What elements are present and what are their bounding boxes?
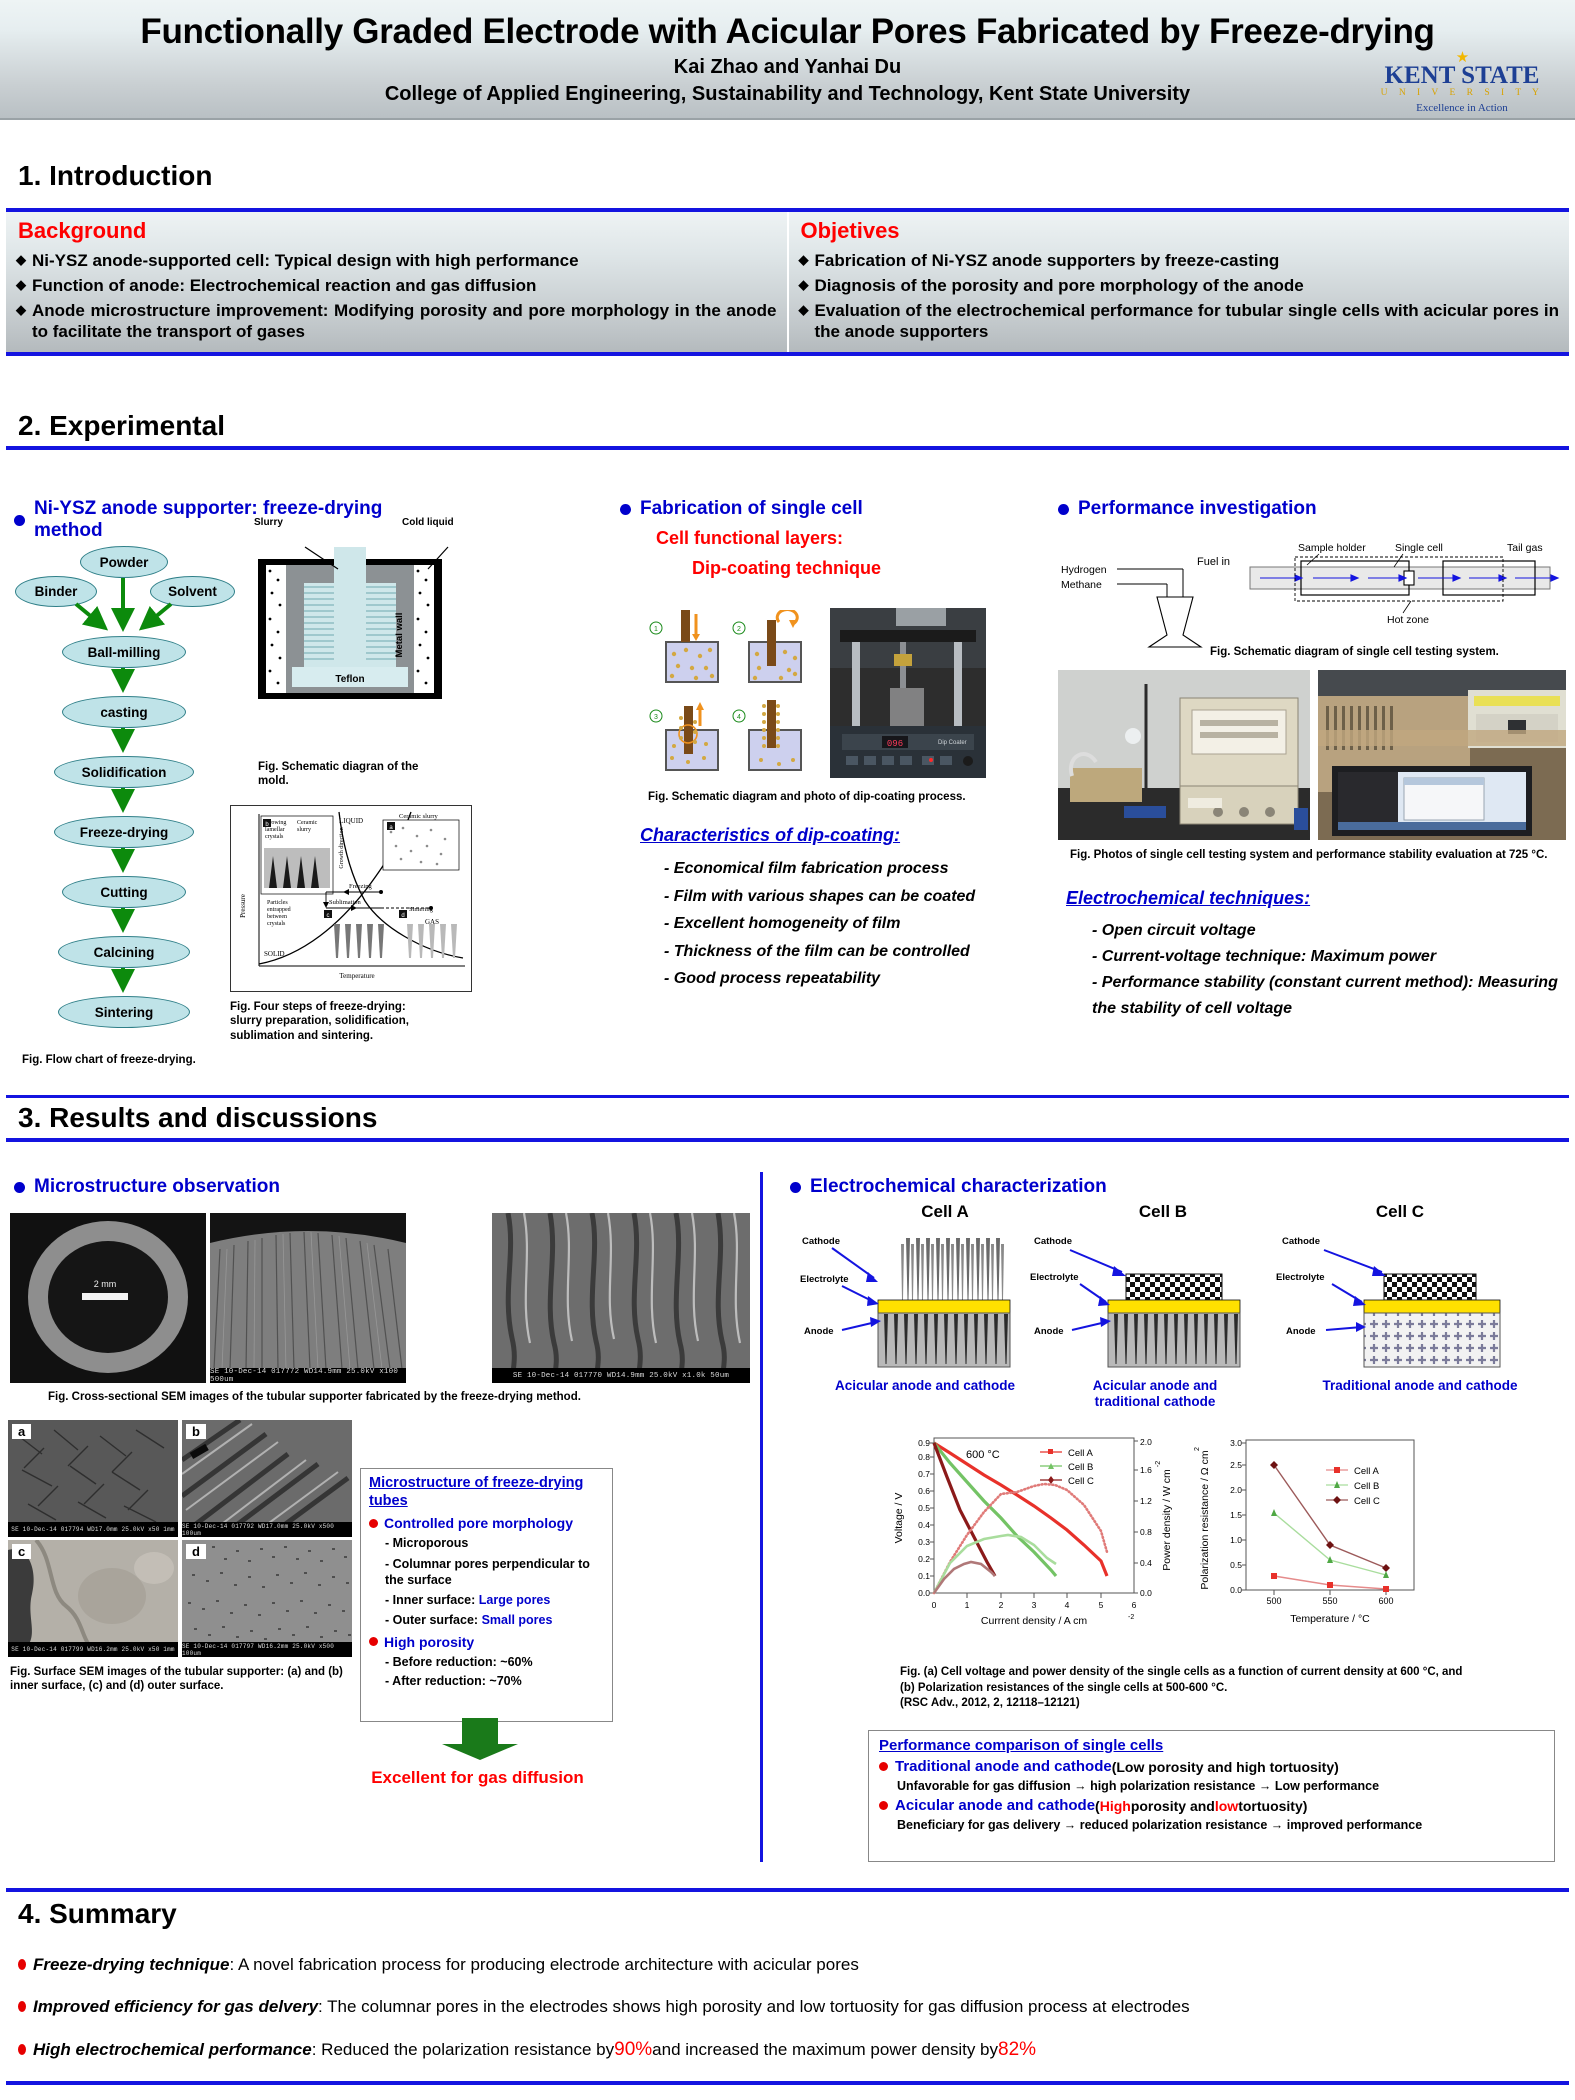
cell-c-svg: Cathode Electrolyte Anode — [1272, 1222, 1562, 1372]
svg-text:3.0: 3.0 — [1230, 1438, 1242, 1448]
svg-text:0.5: 0.5 — [1230, 1560, 1242, 1570]
svg-text:crystals: crystals — [267, 921, 286, 927]
micro-box-item: - Before reduction: ~60% — [385, 1655, 604, 1669]
svg-text:1: 1 — [965, 1600, 970, 1610]
svg-text:Freezing: Freezing — [349, 883, 372, 890]
page-title: Functionally Graded Electrode with Acicu… — [0, 12, 1575, 52]
bullet-icon — [620, 504, 631, 515]
sem-d-svg — [182, 1540, 352, 1657]
svg-text:500: 500 — [1266, 1596, 1281, 1606]
sem-info-bar: SE 10-Dec-14 017797 WD16.2mm 25.0kV x500… — [182, 1642, 352, 1657]
svg-text:Metal wall: Metal wall — [394, 613, 405, 658]
sem-info-bar: SE 10-Dec-14 017772 WD14.9mm 25.0kV x100… — [210, 1368, 406, 1383]
svg-text:2.0: 2.0 — [1140, 1437, 1152, 1447]
svg-text:Cell B: Cell B — [1068, 1462, 1093, 1473]
bullet-icon — [18, 1959, 26, 1970]
sem-cross-columnar: SE 10-Dec-14 017772 WD14.9mm 25.0kV x100… — [210, 1213, 406, 1383]
characteristics-heading: Characteristics of dip-coating: — [640, 825, 1040, 846]
chart-iv-svg: 0.00.1 0.20.3 0.40.5 0.60.7 0.80.9 0.00.… — [888, 1428, 1178, 1628]
vertical-divider — [760, 1172, 763, 1862]
diamond-icon: ◆ — [16, 250, 26, 272]
objectives-heading: Objetives — [801, 218, 1560, 244]
charts-reference: (RSC Adv., 2012, 2, 12118–12121) — [900, 1697, 1080, 1709]
section-title-summary: 4. Summary — [0, 1898, 1575, 1930]
svg-text:0.6: 0.6 — [918, 1486, 930, 1496]
sem-panel-label: c — [12, 1544, 31, 1559]
testing-schematic-caption: Fig. Schematic diagram of single cell te… — [1210, 645, 1565, 659]
summary-item-bold: Freeze-drying technique — [33, 1955, 229, 1975]
logo-tagline: Excellence in Action — [1377, 103, 1547, 114]
svg-text:0.2: 0.2 — [918, 1554, 930, 1564]
svg-text:crystals: crystals — [265, 834, 284, 840]
perf-item2-post: tortuosity) — [1238, 1798, 1307, 1814]
cross-sem-caption: Fig. Cross-sectional SEM images of the t… — [48, 1390, 748, 1404]
svg-text:Methane: Methane — [1061, 579, 1102, 591]
surface-sem-caption: Fig. Surface SEM images of the tubular s… — [10, 1665, 355, 1694]
svg-text:Particles: Particles — [267, 900, 288, 906]
summary-item: Improved efficiency for gas delvery : Th… — [18, 1997, 1563, 2017]
summary-item: High electrochemical performance : Reduc… — [18, 2039, 1563, 2061]
summary-item3-p2: and increased the maximum power density … — [652, 2040, 998, 2060]
svg-text:4: 4 — [1065, 1600, 1070, 1610]
sem-surface-b: b SE 10-Dec-14 017792 WD17.0mm 25.0kV x5… — [182, 1420, 352, 1537]
perf-item2-blue: Acicular anode and cathode — [895, 1797, 1095, 1814]
svg-text:slurry: slurry — [297, 827, 311, 833]
logo-name: KENT STATE — [1377, 63, 1547, 88]
cell-b-diagram: Cathode Electrolyte Anode — [1030, 1222, 1280, 1372]
svg-text:1.0: 1.0 — [1230, 1535, 1242, 1545]
cell-a-svg: Cathode Electrolyte Anode — [800, 1222, 1050, 1372]
svg-text:0.9: 0.9 — [918, 1438, 930, 1448]
freeze-drying-phase-diagram: LIQUID Ceramic slurry GAS SOLID Growing … — [230, 805, 472, 992]
svg-text:Electrolyte: Electrolyte — [800, 1274, 849, 1285]
svg-text:-2: -2 — [1155, 1461, 1162, 1467]
mold-schematic: Teflon Metal wall Slurry Cold liquid — [230, 525, 470, 755]
echem-techniques: Electrochemical techniques: - Open circu… — [1066, 888, 1566, 1022]
flow-node-freeze-drying: Freeze-drying — [54, 816, 194, 848]
mold-label-cold-liquid: Cold liquid — [402, 517, 454, 528]
bullet-icon — [879, 1801, 888, 1810]
cell-b-caption: Acicular anode and traditional cathode — [1060, 1378, 1250, 1411]
svg-text:Growth direction: Growth direction — [339, 827, 345, 868]
testing-system-schematic: Hydrogen Methane Fuel in Sample holder S… — [1055, 535, 1565, 660]
cell-c-caption: Traditional anode and cathode — [1300, 1378, 1540, 1394]
svg-text:2 mm: 2 mm — [94, 1279, 117, 1289]
furnace-svg — [1058, 670, 1310, 840]
perf-box-heading: Performance comparison of single cells — [879, 1737, 1544, 1754]
furnace-photo — [1058, 670, 1310, 840]
micro-box-item: - After reduction: ~70% — [385, 1674, 604, 1688]
exp-col3-heading: Performance investigation — [1058, 498, 1558, 520]
svg-text:Hydrogen: Hydrogen — [1061, 564, 1107, 576]
summary-item3-p1: : Reduced the polarization resistance by — [312, 2040, 614, 2060]
poster-header: Functionally Graded Electrode with Acicu… — [0, 0, 1575, 120]
objectives-item: ◆Evaluation of the electrochemical perfo… — [799, 300, 1560, 344]
svg-text:Cell B: Cell B — [1354, 1481, 1379, 1492]
chart-polarization: 0.00.5 1.01.5 2.02.5 3.0 500550600 Cell … — [1188, 1428, 1488, 1628]
divider — [6, 446, 1569, 450]
svg-text:Power density / W cm: Power density / W cm — [1161, 1469, 1173, 1571]
svg-text:-2: -2 — [1128, 1614, 1134, 1621]
svg-text:2: 2 — [737, 626, 741, 633]
sem-info-bar: SE 10-Dec-14 017794 WD17.0mm 25.0kV x50 … — [8, 1522, 178, 1537]
svg-text:Temperature / °C: Temperature / °C — [1290, 1613, 1370, 1625]
micro-box-item: - Microporous — [385, 1535, 604, 1551]
affiliation: College of Applied Engineering, Sustaina… — [0, 83, 1575, 106]
svg-text:Sublimation: Sublimation — [329, 899, 362, 906]
testing-schematic-svg: Hydrogen Methane Fuel in Sample holder S… — [1055, 535, 1565, 660]
dip-coater-photo: 096 Dip Coater — [830, 608, 986, 778]
svg-text:Anode: Anode — [1286, 1326, 1316, 1337]
sem-zoom-svg — [492, 1213, 750, 1383]
bullet-icon — [1058, 504, 1069, 515]
diamond-icon: ◆ — [16, 300, 26, 344]
bullet-icon — [369, 1519, 378, 1528]
svg-text:Cell A: Cell A — [1354, 1466, 1379, 1477]
sem-b-svg — [182, 1420, 352, 1537]
bullet-icon — [14, 515, 25, 526]
exp-col2-heading-text: Fabrication of single cell — [640, 498, 863, 520]
sem-info-bar: SE 10-Dec-14 017792 WD17.0mm 25.0kV x500… — [182, 1522, 352, 1537]
svg-text:Pressure: Pressure — [239, 894, 247, 918]
sem-ring-svg: 2 mm — [10, 1213, 206, 1383]
summary-item3-bold: High electrochemical performance — [33, 2040, 312, 2060]
chart-iv-power: 0.00.1 0.20.3 0.40.5 0.60.7 0.80.9 0.00.… — [888, 1428, 1178, 1628]
cell-functional-layers: Cell functional layers: — [656, 528, 1040, 549]
micro-box-outer: - Outer surface: Small pores — [385, 1612, 604, 1628]
photos-caption: Fig. Photos of single cell testing syste… — [1070, 848, 1565, 862]
characteristic-item: - Good process repeatability — [664, 965, 1040, 993]
flowchart-freeze-drying: Powder Binder Solvent Ball-milling casti… — [10, 538, 235, 1048]
techniques-heading: Electrochemical techniques: — [1066, 888, 1566, 909]
objectives-item: ◆Diagnosis of the porosity and pore morp… — [799, 275, 1560, 297]
summary-item-bold: Improved efficiency for gas delvery — [33, 1997, 318, 2017]
svg-text:2.5: 2.5 — [1230, 1460, 1242, 1470]
perf-item1-blue: Traditional anode and cathode — [895, 1758, 1112, 1775]
sem-columnar-svg — [210, 1213, 406, 1383]
dip-coating-caption: Fig. Schematic diagram and photo of dip-… — [648, 790, 988, 804]
flow-node-casting: casting — [62, 696, 186, 728]
diamond-icon: ◆ — [16, 275, 26, 297]
dip-schematic-svg: 1 2 3 — [648, 610, 813, 780]
bullet-icon — [369, 1637, 378, 1646]
bullet-icon — [879, 1762, 888, 1771]
perf-item1-sub: Unfavorable for gas diffusion → high pol… — [897, 1779, 1544, 1793]
summary-value-90: 90% — [614, 2039, 652, 2061]
svg-text:Voltage / V: Voltage / V — [893, 1493, 905, 1544]
background-item: ◆Function of anode: Electrochemical reac… — [16, 275, 777, 297]
svg-text:0.7: 0.7 — [918, 1469, 930, 1479]
logo-university: U N I V E R S I T Y — [1377, 89, 1547, 99]
micro-box-b2: High porosity — [384, 1634, 474, 1650]
background-heading: Background — [18, 218, 777, 244]
flow-node-ball-milling: Ball-milling — [62, 636, 186, 668]
svg-text:2.0: 2.0 — [1230, 1485, 1242, 1495]
intro-panels: Background ◆Ni-YSZ anode-supported cell:… — [6, 208, 1569, 356]
svg-text:Cell A: Cell A — [1068, 1448, 1093, 1459]
sem-c-svg — [8, 1540, 178, 1657]
perf-item2-mid: porosity and — [1131, 1798, 1215, 1814]
background-item: ◆Ni-YSZ anode-supported cell: Typical de… — [16, 250, 777, 272]
sem-surface-d: d SE 10-Dec-14 017797 WD16.2mm 25.0kV x5… — [182, 1540, 352, 1657]
divider — [6, 2081, 1569, 2085]
sem-surface-c: c SE 10-Dec-14 017799 WD16.2mm 25.0kV x5… — [8, 1540, 178, 1657]
svg-text:0.0: 0.0 — [1140, 1588, 1152, 1598]
experimental-section-header: 2. Experimental — [0, 410, 1575, 450]
micro-heading-text: Microstructure observation — [34, 1176, 280, 1198]
micro-box-b1: Controlled pore morphology — [384, 1515, 573, 1531]
cell-c-diagram: Cathode Electrolyte Anode — [1272, 1222, 1562, 1372]
svg-text:550: 550 — [1322, 1596, 1337, 1606]
diamond-icon: ◆ — [799, 275, 809, 297]
svg-text:2: 2 — [1194, 1447, 1201, 1451]
svg-text:1.5: 1.5 — [1230, 1510, 1242, 1520]
svg-text:1.2: 1.2 — [1140, 1496, 1152, 1506]
echem-heading-text: Electrochemical characterization — [810, 1176, 1107, 1198]
svg-text:4: 4 — [737, 714, 741, 721]
sem-surface-a: a SE 10-Dec-14 017794 WD17.0mm 25.0kV x5… — [8, 1420, 178, 1537]
svg-text:Tail gas: Tail gas — [1507, 542, 1543, 554]
perf-item1-black: (Low porosity and high tortuosity) — [1112, 1759, 1339, 1775]
characteristic-item: - Thickness of the film can be controlle… — [664, 938, 1040, 966]
perf-item2-red2: low — [1215, 1798, 1238, 1814]
svg-text:Ceramic: Ceramic — [297, 820, 318, 826]
divider — [6, 1138, 1569, 1142]
svg-text:0: 0 — [932, 1600, 937, 1610]
svg-text:Cathode: Cathode — [1034, 1236, 1072, 1247]
cell-c-title: Cell C — [1290, 1202, 1510, 1222]
svg-text:Ceramic slurry: Ceramic slurry — [399, 813, 439, 820]
micro-box-inner: - Inner surface: Large pores — [385, 1592, 604, 1608]
gas-diffusion-conclusion: Excellent for gas diffusion — [360, 1768, 595, 1788]
background-panel: Background ◆Ni-YSZ anode-supported cell:… — [6, 212, 789, 352]
svg-text:c: c — [327, 913, 330, 919]
svg-text:1: 1 — [654, 626, 658, 633]
phase-caption: Fig. Four steps of freeze-drying: slurry… — [230, 1000, 440, 1043]
micro-box-item: - Columnar pores perpendicular to the su… — [385, 1556, 604, 1589]
svg-text:3: 3 — [654, 714, 658, 721]
svg-text:Dip Coater: Dip Coater — [938, 740, 967, 746]
sem-info-bar: SE 10-Dec-14 017770 WD14.9mm 25.0kV x1.0… — [492, 1368, 750, 1383]
svg-text:0.4: 0.4 — [918, 1520, 930, 1530]
characteristic-item: - Excellent homogeneity of film — [664, 910, 1040, 938]
svg-text:Fuel in: Fuel in — [1197, 556, 1230, 568]
mold-svg: Teflon Metal wall — [230, 525, 470, 755]
svg-text:LIQUID: LIQUID — [339, 817, 363, 825]
characteristic-item: - Film with various shapes can be coated — [664, 883, 1040, 911]
svg-text:d: d — [401, 913, 404, 919]
background-item-text: Ni-YSZ anode-supported cell: Typical des… — [32, 250, 777, 272]
performance-comparison-box: Performance comparison of single cells T… — [868, 1730, 1555, 1862]
down-arrow-icon — [430, 1718, 530, 1760]
intro-section-header: 1. Introduction — [0, 160, 1575, 192]
diamond-icon: ◆ — [799, 250, 809, 272]
technique-item: - Open circuit voltage — [1092, 918, 1566, 944]
instrument-svg — [1318, 670, 1566, 840]
mold-label-slurry: Slurry — [254, 517, 283, 528]
sem-a-svg — [8, 1420, 178, 1537]
background-item-text: Anode microstructure improvement: Modify… — [32, 300, 777, 344]
flowchart-caption: Fig. Flow chart of freeze-drying. — [22, 1053, 222, 1067]
authors: Kai Zhao and Yanhai Du — [0, 56, 1575, 79]
objectives-item-text: Diagnosis of the porosity and pore morph… — [815, 275, 1560, 297]
svg-text:Cathode: Cathode — [1282, 1236, 1320, 1247]
phase-svg: LIQUID Ceramic slurry GAS SOLID Growing … — [231, 806, 471, 991]
svg-text:Currrent density / A cm: Currrent density / A cm — [981, 1615, 1087, 1627]
objectives-item: ◆Fabrication of Ni-YSZ anode supporters … — [799, 250, 1560, 272]
summary-item-rest: : The columnar pores in the electrodes s… — [318, 1997, 1190, 2017]
svg-text:Electrolyte: Electrolyte — [1276, 1272, 1325, 1283]
svg-text:Temperature: Temperature — [339, 972, 374, 980]
bullet-icon — [790, 1182, 801, 1193]
background-item: ◆Anode microstructure improvement: Modif… — [16, 300, 777, 344]
svg-text:Cell C: Cell C — [1354, 1496, 1380, 1507]
flow-node-solidification: Solidification — [54, 756, 194, 788]
svg-text:0.4: 0.4 — [1140, 1558, 1152, 1568]
technique-item: - Current-voltage technique: Maximum pow… — [1092, 944, 1566, 970]
svg-text:Hot zone: Hot zone — [1387, 614, 1429, 626]
bullet-icon — [18, 2001, 26, 2012]
technique-item: - Performance stability (constant curren… — [1092, 970, 1566, 1022]
sem-panel-label: b — [186, 1424, 206, 1439]
svg-text:0.0: 0.0 — [1230, 1585, 1242, 1595]
svg-text:6: 6 — [1132, 1600, 1137, 1610]
svg-text:600 °C: 600 °C — [966, 1449, 1000, 1461]
svg-text:Anode: Anode — [1034, 1326, 1064, 1337]
divider — [6, 1888, 1569, 1892]
summary-item-rest: : A novel fabrication process for produc… — [229, 1955, 858, 1975]
svg-text:0.0: 0.0 — [918, 1588, 930, 1598]
perf-item2-red1: High — [1100, 1798, 1131, 1814]
flow-node-calcining: Calcining — [58, 936, 190, 968]
charts-caption-text: Fig. (a) Cell voltage and power density … — [900, 1666, 1462, 1694]
svg-text:0.5: 0.5 — [918, 1503, 930, 1513]
perf-item2-sub: Beneficiary for gas delivery → reduced p… — [897, 1818, 1544, 1832]
svg-text:between: between — [267, 914, 287, 920]
summary-value-82: 82% — [998, 2039, 1036, 2061]
dip-coating-schematic: 1 2 3 — [648, 610, 813, 780]
cell-a-title: Cell A — [840, 1202, 1050, 1222]
svg-text:3: 3 — [1032, 1600, 1037, 1610]
cell-a-diagram: Cathode Electrolyte Anode — [800, 1222, 1050, 1372]
svg-text:0.8: 0.8 — [1140, 1527, 1152, 1537]
svg-text:Teflon: Teflon — [335, 674, 364, 685]
svg-text:Single cell: Single cell — [1395, 542, 1443, 554]
diamond-icon: ◆ — [799, 300, 809, 344]
instrument-photo — [1318, 670, 1566, 840]
svg-text:Polarization resistance / Ω cm: Polarization resistance / Ω cm — [1199, 1450, 1211, 1589]
svg-text:600: 600 — [1378, 1596, 1393, 1606]
section-title-results: 3. Results and discussions — [0, 1102, 1575, 1134]
echem-heading: Electrochemical characterization — [790, 1176, 1107, 1198]
micro-heading: Microstructure observation — [14, 1176, 280, 1198]
microstructure-box: Microstructure of freeze-drying tubes Co… — [360, 1468, 613, 1722]
summary-list: Freeze-drying technique : A novel fabric… — [18, 1955, 1563, 2061]
cell-b-title: Cell B — [1058, 1202, 1268, 1222]
svg-text:2: 2 — [999, 1600, 1004, 1610]
kent-state-logo: ★ KENT STATE U N I V E R S I T Y Excelle… — [1377, 50, 1547, 114]
svg-text:entrapped: entrapped — [267, 907, 291, 913]
svg-text:Sample holder: Sample holder — [1298, 542, 1366, 554]
flow-node-sintering: Sintering — [58, 996, 190, 1028]
mold-caption: Fig. Schematic diagran of the mold. — [258, 760, 433, 789]
svg-text:0.3: 0.3 — [918, 1537, 930, 1547]
divider — [6, 1095, 1569, 1098]
exp-col3-heading-text: Performance investigation — [1078, 498, 1317, 520]
svg-text:Cell C: Cell C — [1068, 1476, 1094, 1487]
summary-item: Freeze-drying technique : A novel fabric… — [18, 1955, 1563, 1975]
sem-panel-label: d — [186, 1544, 206, 1559]
section-title-intro: 1. Introduction — [0, 160, 1575, 192]
bullet-icon — [14, 1182, 25, 1193]
charts-caption: Fig. (a) Cell voltage and power density … — [900, 1665, 1465, 1712]
svg-text:0.1: 0.1 — [918, 1571, 930, 1581]
sem-cross-ring: 2 mm — [10, 1213, 206, 1383]
summary-section: 4. Summary — [0, 1888, 1575, 1930]
svg-text:Electrolyte: Electrolyte — [1030, 1272, 1079, 1283]
svg-text:Cathode: Cathode — [802, 1236, 840, 1247]
objectives-item-text: Fabrication of Ni-YSZ anode supporters b… — [815, 250, 1560, 272]
micro-box-heading: Microstructure of freeze-drying tubes — [369, 1475, 604, 1510]
objectives-item-text: Evaluation of the electrochemical perfor… — [815, 300, 1560, 344]
svg-text:5: 5 — [1099, 1600, 1104, 1610]
svg-text:0.8: 0.8 — [918, 1452, 930, 1462]
svg-text:Anode: Anode — [804, 1326, 834, 1337]
results-section-header: 3. Results and discussions — [0, 1095, 1575, 1142]
background-item-text: Function of anode: Electrochemical react… — [32, 275, 777, 297]
svg-text:096: 096 — [887, 739, 903, 749]
svg-text:1.6: 1.6 — [1140, 1465, 1152, 1475]
dip-coating-technique: Dip-coating technique — [692, 558, 1040, 579]
objectives-panel: Objetives ◆Fabrication of Ni-YSZ anode s… — [789, 212, 1570, 352]
cell-a-caption: Acicular anode and cathode — [810, 1378, 1040, 1394]
sem-cross-zoom: SE 10-Dec-14 017770 WD14.9mm 25.0kV x1.0… — [492, 1213, 750, 1383]
exp-col2-heading: Fabrication of single cell Cell function… — [620, 498, 1040, 579]
dip-coater-svg: 096 Dip Coater — [830, 608, 986, 778]
svg-text:SOLID: SOLID — [264, 950, 285, 958]
bullet-icon — [18, 2044, 26, 2055]
chart-pol-svg: 0.00.5 1.01.5 2.02.5 3.0 500550600 Cell … — [1188, 1428, 1488, 1628]
flow-node-cutting: Cutting — [62, 876, 186, 908]
dip-characteristics: Characteristics of dip-coating: - Econom… — [640, 825, 1040, 993]
sem-panel-label: a — [12, 1424, 31, 1439]
section-title-experimental: 2. Experimental — [0, 410, 1575, 442]
cell-b-svg: Cathode Electrolyte Anode — [1030, 1222, 1280, 1372]
sem-info-bar: SE 10-Dec-14 017799 WD16.2mm 25.0kV x50 … — [8, 1642, 178, 1657]
flow-arrows — [10, 538, 235, 1048]
characteristic-item: - Economical film fabrication process — [664, 855, 1040, 883]
